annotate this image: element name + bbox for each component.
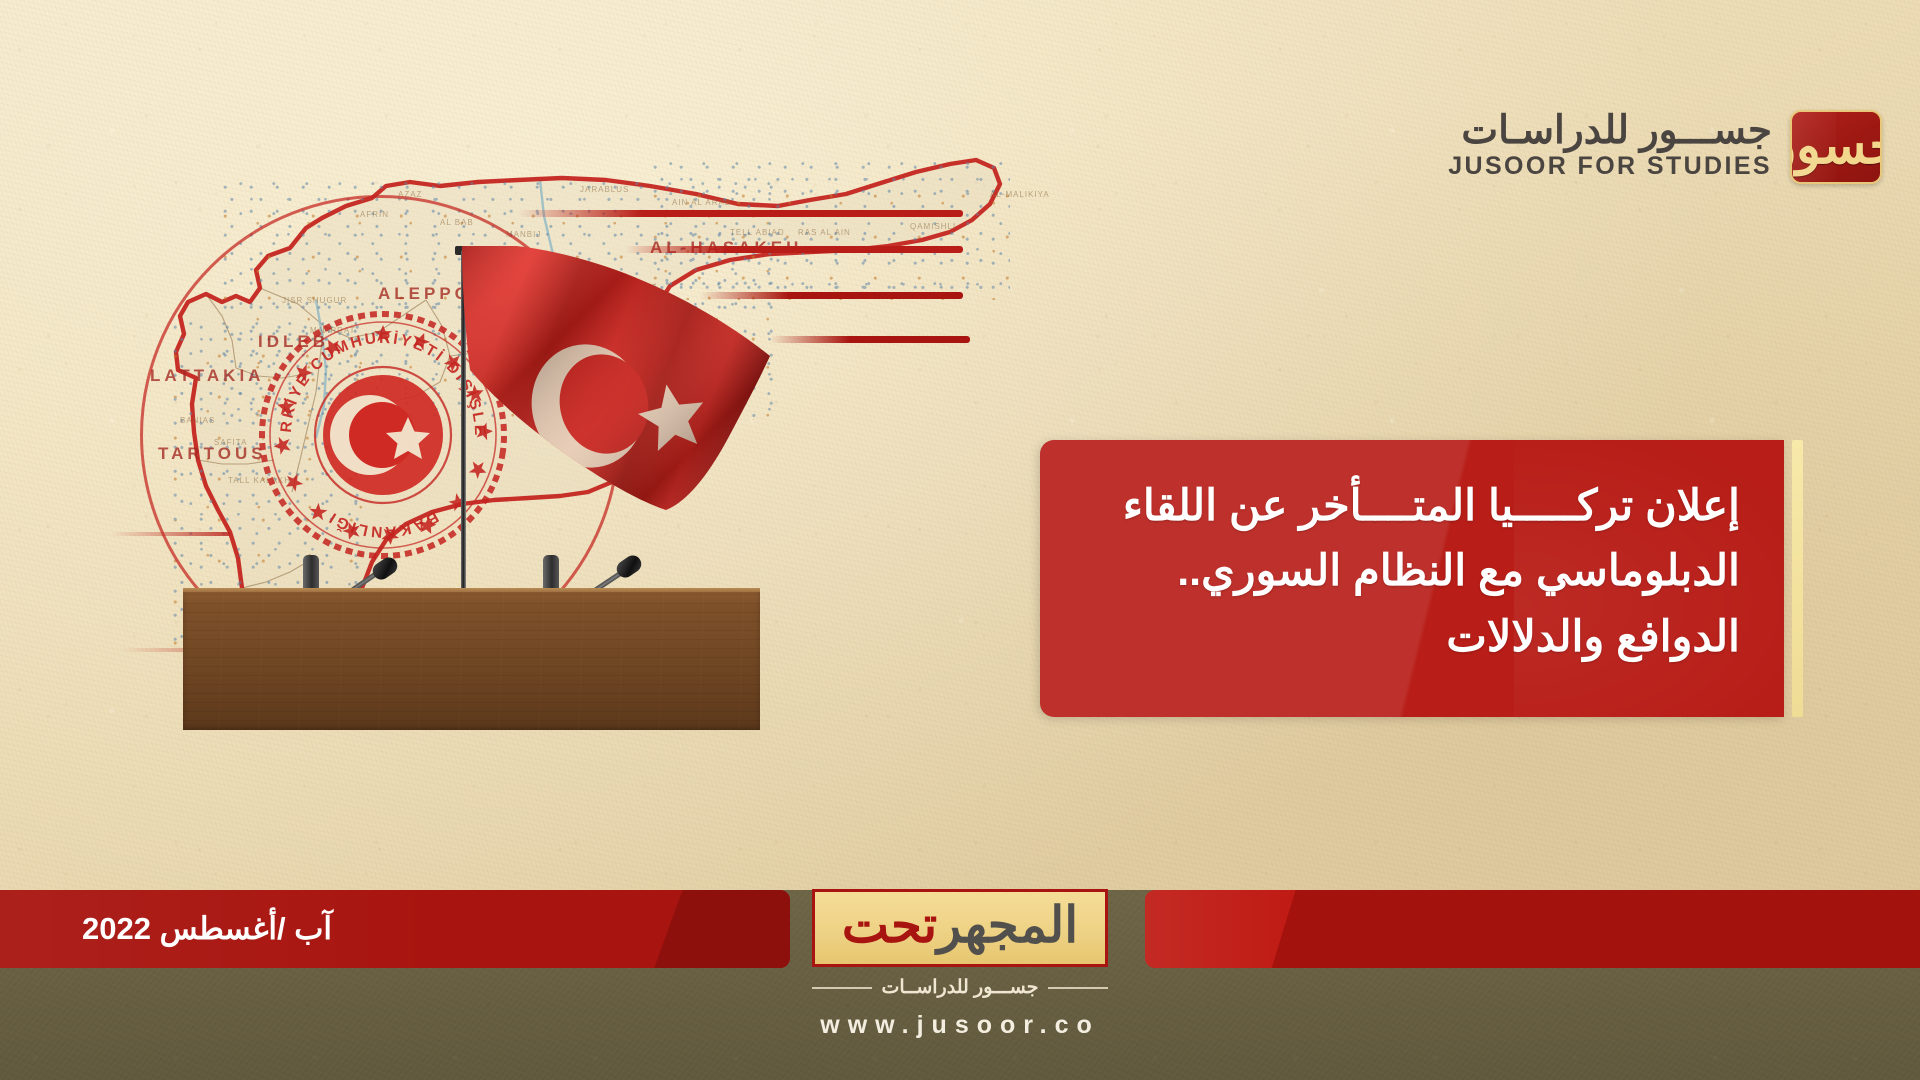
headline-text: إعلان تركـــــيا المتــــأخر عن اللقاء ا… xyxy=(1040,440,1784,670)
map-label-tell-abiad: TELL ABIAD xyxy=(730,228,785,237)
accent-streak xyxy=(518,210,963,217)
map-label-al-malikiya: AL-MALIKIYA xyxy=(990,190,1050,199)
map-label-al-bab: AL BAB xyxy=(440,218,474,227)
map-label-tartous: TARTOUS xyxy=(158,444,267,464)
map-label-ain-al-arab: AIN AL ARAB xyxy=(672,198,731,207)
brand-wordmark: جســـور للدراسـات JUSOOR FOR STUDIES xyxy=(1448,111,1772,184)
brand-name-english: JUSOOR FOR STUDIES xyxy=(1448,150,1772,184)
podium-wood-grain xyxy=(183,592,760,730)
headline-gold-accent-bar xyxy=(1792,440,1803,717)
map-label-safita: SAFITA xyxy=(214,438,247,447)
map-label-ras-al-ain: RAS AL AIN xyxy=(798,228,851,237)
brand-name-arabic: جســـور للدراسـات xyxy=(1461,111,1772,150)
logo-mark-shine xyxy=(1790,110,1836,184)
series-logo-title: المجهرتحت xyxy=(842,900,1078,950)
date-band-label-wrap: آب /أغسطس 2022 xyxy=(0,890,790,968)
series-title-red: تحت xyxy=(842,897,937,953)
headline-line-2: الدبلوماسي مع النظام السوري.. xyxy=(1084,539,1740,604)
turkish-flag-svg xyxy=(440,246,780,546)
map-label-jarablus: JARABLUS xyxy=(580,185,629,194)
series-logo-plate: المجهرتحت xyxy=(812,889,1108,967)
divider-right xyxy=(1048,987,1108,989)
series-logo[interactable]: المجهرتحت جســـور للدراســات www.jusoor.… xyxy=(795,889,1125,1040)
accent-streak xyxy=(110,532,230,536)
publication-date: آب /أغسطس 2022 xyxy=(82,911,332,947)
footer-right-band xyxy=(1145,890,1920,968)
seal-text-bottom: BAKANLIĞI xyxy=(324,508,441,540)
map-label-afrin: AFRIN xyxy=(360,210,389,219)
map-label-jisr-shugur: JISR SHUGUR xyxy=(282,296,347,305)
accent-streak xyxy=(770,336,970,343)
series-subtitle-row: جســـور للدراســات xyxy=(812,976,1108,999)
jusoor-brand-logo[interactable]: جســـور للدراسـات JUSOOR FOR STUDIES جسو… xyxy=(1448,110,1882,184)
jusoor-logo-mark: جسور xyxy=(1790,110,1882,184)
poster-canvas: ALEPPO IDLEB LATTAKIA TARTOUS RAQQA AL-H… xyxy=(0,0,1920,1080)
series-title-gray: المجهر xyxy=(937,897,1078,953)
press-podium xyxy=(183,592,760,730)
map-label-qamishli: QAMISHLI xyxy=(910,222,956,231)
headline-panel: إعلان تركـــــيا المتــــأخر عن اللقاء ا… xyxy=(1040,440,1784,717)
divider-left xyxy=(812,987,872,989)
turkish-flag xyxy=(440,246,780,546)
right-band-shade xyxy=(1268,890,1920,968)
map-label-lattakia: LATTAKIA xyxy=(150,366,264,386)
headline-line-1: إعلان تركـــــيا المتــــأخر عن اللقاء xyxy=(1084,474,1740,539)
map-label-manbij: MANBIJ xyxy=(506,230,541,239)
headline-line-3: الدوافع والدلالات xyxy=(1084,605,1740,670)
map-label-azaz: AZAZ xyxy=(398,190,422,199)
website-url[interactable]: www.jusoor.co xyxy=(820,1011,1100,1040)
map-label-banias: BANIAS xyxy=(180,416,215,425)
series-subtitle: جســـور للدراســات xyxy=(882,976,1039,999)
